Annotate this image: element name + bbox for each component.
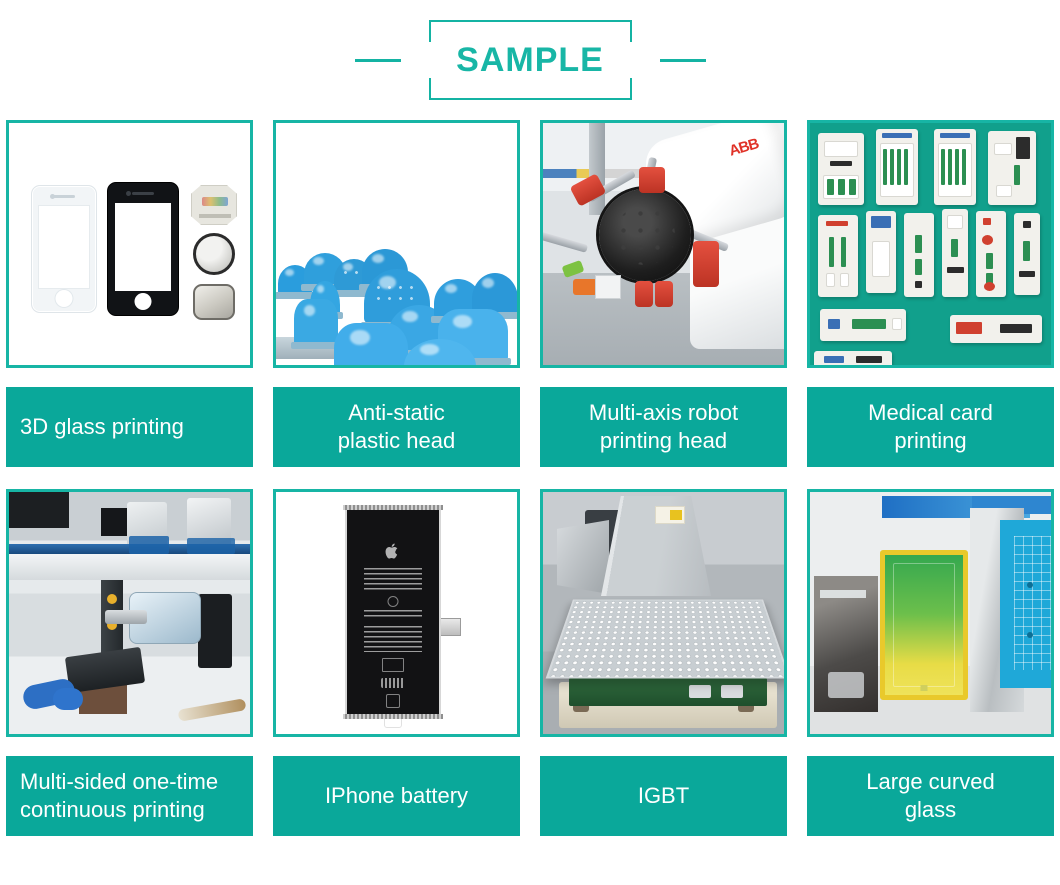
screen-area	[115, 203, 171, 291]
sample-card[interactable]: 3D glass printing	[6, 120, 253, 467]
camera-hole	[50, 194, 55, 199]
li-ion-recycle-icon	[384, 714, 402, 728]
battery-legal-text	[364, 626, 422, 652]
square-home-button	[193, 284, 235, 320]
blue-cable	[53, 688, 83, 710]
card-thumbnail[interactable]	[273, 489, 520, 737]
pin-fin-heatsink	[546, 599, 784, 678]
home-button-cutout	[56, 290, 73, 307]
speaker-slot	[132, 192, 154, 195]
blue-ink-pool	[129, 536, 169, 554]
test-cassette	[988, 131, 1036, 205]
test-cassette	[904, 213, 934, 297]
warning-label	[655, 506, 685, 524]
igbt-module-photo	[543, 492, 784, 734]
printed-bar-graphic	[199, 214, 231, 218]
card-label-text: IGBT	[638, 782, 689, 810]
card-thumbnail[interactable]: ABB	[540, 120, 787, 368]
printed-grid-pattern	[1014, 536, 1051, 670]
card-label: Anti-staticplastic head	[273, 387, 520, 467]
warning-triangle-icon	[388, 596, 399, 607]
page-title: SAMPLE	[456, 43, 604, 77]
sample-card-grid: 3D glass printing	[0, 120, 1060, 836]
sample-card[interactable]: Medical cardprinting	[807, 120, 1054, 467]
test-cassette	[814, 351, 892, 365]
test-cassette	[976, 211, 1006, 297]
card-label-text: Multi-axis robotprinting head	[589, 399, 738, 455]
camera-hole	[126, 191, 131, 196]
regulatory-mark-icon	[382, 658, 404, 672]
title-frame: SAMPLE	[429, 20, 632, 100]
card-label: IPhone battery	[273, 756, 520, 836]
card-thumbnail[interactable]	[807, 120, 1054, 368]
test-cassette	[934, 129, 976, 205]
iphone-battery-photo	[276, 492, 517, 734]
sample-card[interactable]: Large curvedglass	[807, 489, 1054, 836]
left-dash-decoration	[355, 59, 401, 62]
panel-hole	[1027, 632, 1033, 638]
page-header: SAMPLE	[0, 0, 1060, 120]
cyan-glass-panel	[1000, 520, 1051, 688]
card-label-text: IPhone battery	[325, 782, 468, 810]
sample-gallery-page: SAMPLE	[0, 0, 1060, 885]
card-thumbnail[interactable]	[6, 489, 253, 737]
red-clamp	[635, 281, 653, 307]
dark-housing	[101, 508, 129, 536]
black-glass-panel	[107, 182, 179, 316]
card-label-text: 3D glass printing	[20, 413, 184, 441]
module-pcb	[569, 678, 767, 706]
blue-silicone-pads-photo	[276, 123, 517, 365]
title-frame-right-bracket	[630, 20, 632, 100]
screen-area	[39, 206, 89, 288]
abb-robot-print-head-photo: ABB	[543, 123, 784, 365]
battery-cell	[345, 506, 441, 718]
card-label: Multi-axis robotprinting head	[540, 387, 787, 467]
card-thumbnail[interactable]	[807, 489, 1054, 737]
background-object	[828, 672, 864, 698]
card-thumbnail[interactable]	[6, 120, 253, 368]
test-cassette	[820, 309, 906, 341]
red-clamp	[693, 241, 719, 287]
card-thumbnail[interactable]	[273, 120, 520, 368]
speaker-slot	[53, 195, 75, 198]
printed-chip-graphic	[202, 197, 228, 206]
panel-hole	[1027, 582, 1033, 588]
test-cassette	[1014, 213, 1040, 295]
medical-test-cassettes-photo	[810, 123, 1051, 365]
test-cassette	[818, 215, 858, 297]
black-module	[198, 594, 232, 668]
test-cassette	[950, 315, 1042, 343]
apple-logo-icon	[385, 542, 401, 560]
dark-housing	[9, 492, 69, 528]
machine-shelf	[9, 554, 250, 580]
card-label: 3D glass printing	[6, 387, 253, 467]
red-clamp	[655, 281, 673, 307]
title-frame-left-bracket	[429, 20, 431, 100]
sample-card[interactable]: IPhone battery	[273, 489, 520, 836]
card-label: Large curvedglass	[807, 756, 1054, 836]
head-bolt-pattern	[615, 205, 675, 265]
chute-side-panel	[557, 520, 609, 594]
continuous-printing-machine-photo	[9, 492, 250, 734]
wee-bin-icon	[386, 694, 400, 708]
sample-card[interactable]: ABB	[540, 120, 787, 467]
certification-mark-icon	[381, 678, 405, 688]
blue-ink-pool	[187, 538, 235, 554]
round-home-button	[193, 233, 235, 275]
white-glass-panel	[31, 185, 97, 313]
green-gradient-glass-panel	[880, 550, 968, 700]
dark-display-panel	[814, 576, 878, 712]
home-button-cutout	[135, 293, 152, 310]
sample-card[interactable]: Multi-sided one-timecontinuous printing	[6, 489, 253, 836]
large-curved-glass-photo	[810, 492, 1051, 734]
battery-warning-text	[364, 610, 422, 620]
card-thumbnail[interactable]	[540, 489, 787, 737]
card-label-text: Multi-sided one-timecontinuous printing	[20, 768, 218, 824]
sample-card[interactable]: Anti-staticplastic head	[273, 120, 520, 467]
multi-axis-print-head	[599, 189, 691, 281]
test-cassette	[818, 133, 864, 205]
test-cassette	[942, 209, 968, 297]
right-dash-decoration	[660, 59, 706, 62]
metal-shaft	[105, 610, 147, 624]
battery-spec-text	[364, 568, 422, 590]
panel-marker	[921, 685, 928, 691]
test-cassette	[866, 211, 896, 293]
card-label-text: Large curvedglass	[866, 768, 994, 824]
phone-glass-panels-photo	[9, 123, 250, 365]
white-jig	[595, 275, 621, 299]
card-label: IGBT	[540, 756, 787, 836]
silicone-pad	[294, 299, 338, 345]
octagon-button-cover	[191, 185, 237, 225]
card-label: Multi-sided one-timecontinuous printing	[6, 756, 253, 836]
battery-connector-tab	[439, 618, 461, 636]
card-label-text: Anti-staticplastic head	[338, 399, 455, 455]
card-label: Medical cardprinting	[807, 387, 1054, 467]
panel-inner-edge	[893, 563, 955, 687]
ceiling-lamp-reflection	[820, 590, 866, 598]
card-label-text: Medical cardprinting	[868, 399, 993, 455]
heatsink-pins	[548, 601, 784, 677]
orange-fixture	[573, 279, 597, 295]
silicone-pad	[334, 323, 408, 365]
test-cassette	[876, 129, 918, 205]
sample-card[interactable]: IGBT	[540, 489, 787, 836]
red-clamp	[639, 167, 665, 193]
